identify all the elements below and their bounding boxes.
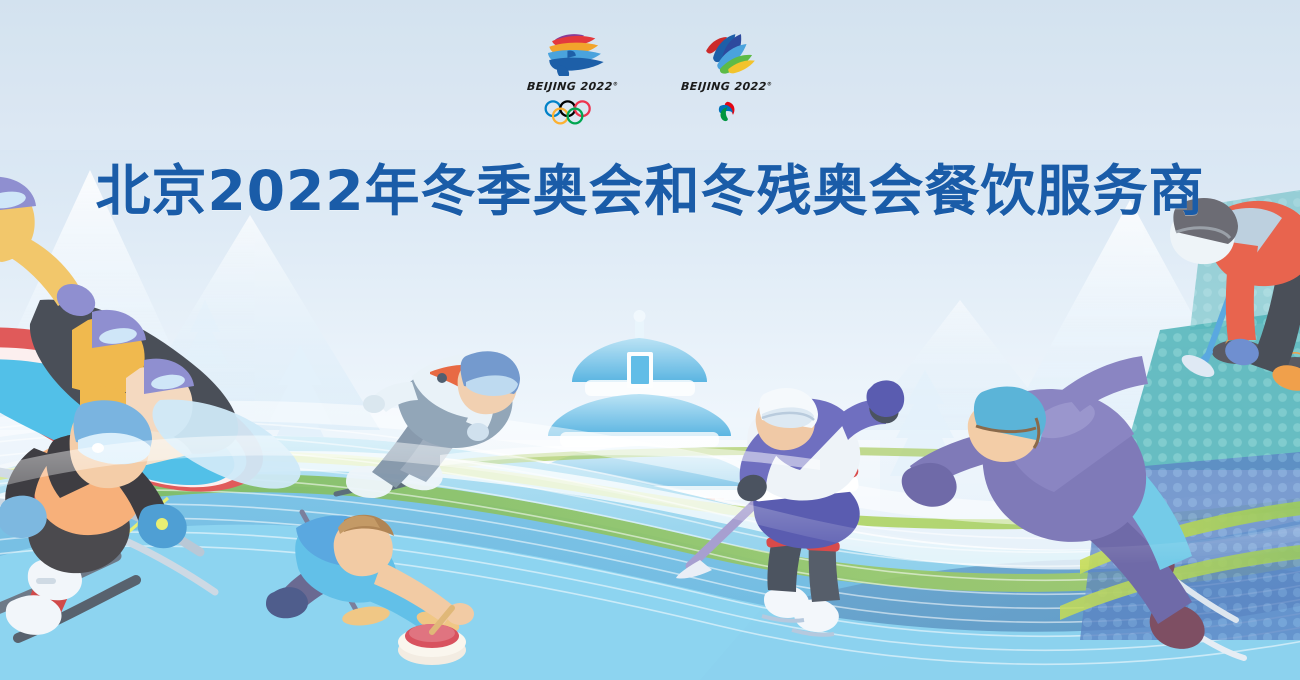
- paralympic-wordmark: BEIJING 2022®: [681, 80, 773, 93]
- page-title: 北京2022年冬季奥会和冬残奥会餐饮服务商: [0, 146, 1300, 226]
- olympic-logo-block: BEIJING 2022®: [517, 30, 629, 126]
- olympic-wordmark: BEIJING 2022®: [527, 80, 619, 93]
- paralympic-agitos: [695, 98, 759, 126]
- beijing-2022-olympic-emblem: [531, 30, 615, 76]
- paralympic-logo-block: BEIJING 2022®: [671, 30, 783, 126]
- olympic-rings: [541, 98, 605, 126]
- beijing-2022-paralympic-emblem: [685, 30, 769, 76]
- beijing-2022-banner: BEIJING 2022®: [0, 0, 1300, 680]
- emblem-row: BEIJING 2022®: [0, 30, 1300, 126]
